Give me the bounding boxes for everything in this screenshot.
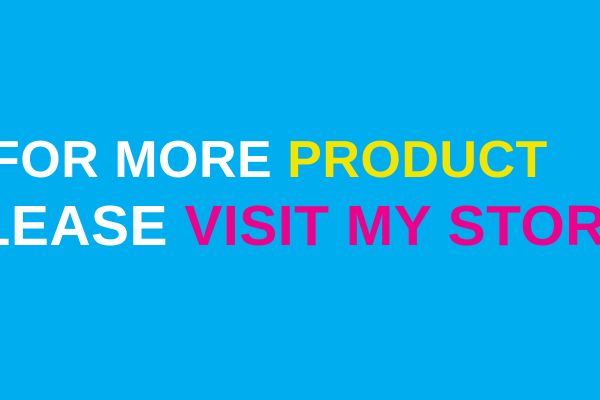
banner-headline-line-1: FOR MORE PRODUCT <box>0 134 548 186</box>
banner-text-block: FOR MORE PRODUCT PLEASE VISIT MY STORE <box>0 0 600 400</box>
please-text: PLEASE <box>0 194 184 258</box>
for-more-text: FOR MORE <box>0 131 287 189</box>
promo-banner: FOR MORE PRODUCT PLEASE VISIT MY STORE <box>0 0 600 400</box>
visit-my-store-text: VISIT MY STORE <box>184 194 600 258</box>
product-text: PRODUCT <box>287 131 548 189</box>
banner-headline-line-2: PLEASE VISIT MY STORE <box>0 198 600 255</box>
